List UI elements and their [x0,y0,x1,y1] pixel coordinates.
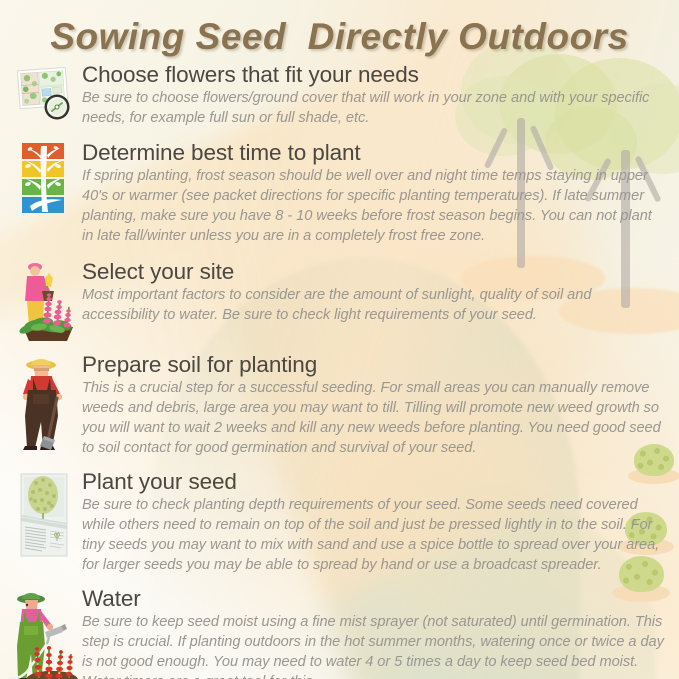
step-row: Prepare soil for planting This is a cruc… [0,352,679,459]
step-icon-cell [8,586,80,679]
step-body: Be sure to check planting depth requirem… [82,496,665,576]
garden-plan-map-icon [13,64,75,122]
step-icon-cell [8,140,80,216]
four-seasons-icon [16,142,72,216]
step-heading: Prepare soil for planting [82,352,665,378]
gardener-with-shovel-icon [15,354,73,450]
step-text-cell: Plant your seed Be sure to check plantin… [80,469,665,576]
step-row: Select your site Most important factors … [0,259,679,343]
step-text-cell: Water Be sure to keep seed moist using a… [80,586,665,679]
step-heading: Select your site [82,259,665,285]
step-icon-cell [8,469,80,559]
step-body: Be sure to keep seed moist using a fine … [82,613,665,679]
seed-packet-icon [16,471,72,559]
gardener-watering-icon [9,588,79,679]
step-heading: Plant your seed [82,469,665,495]
step-icon-cell [8,352,80,450]
step-text-cell: Prepare soil for planting This is a cruc… [80,352,665,459]
step-heading: Choose flowers that fit your needs [82,62,665,88]
step-heading: Determine best time to plant [82,140,665,166]
step-row: Plant your seed Be sure to check plantin… [0,469,679,576]
infographic-poster: Sowing Seed Directly Outdoors [0,0,679,679]
step-heading: Water [82,586,665,612]
step-icon-cell [8,62,80,122]
gardener-planting-flowers-icon [13,261,75,343]
step-body: If spring planting, frost season should … [82,167,665,247]
step-row: Determine best time to plant If spring p… [0,140,679,247]
step-text-cell: Choose flowers that fit your needs Be su… [80,62,665,129]
page-title: Sowing Seed Directly Outdoors [0,16,679,58]
step-row: Choose flowers that fit your needs Be su… [0,62,679,129]
step-body: This is a crucial step for a successful … [82,379,665,459]
step-body: Be sure to choose flowers/ground cover t… [82,89,665,129]
step-text-cell: Select your site Most important factors … [80,259,665,326]
steps-list: Choose flowers that fit your needs Be su… [0,62,679,679]
step-row: Water Be sure to keep seed moist using a… [0,586,679,679]
step-body: Most important factors to consider are t… [82,286,665,326]
step-icon-cell [8,259,80,343]
step-text-cell: Determine best time to plant If spring p… [80,140,665,247]
